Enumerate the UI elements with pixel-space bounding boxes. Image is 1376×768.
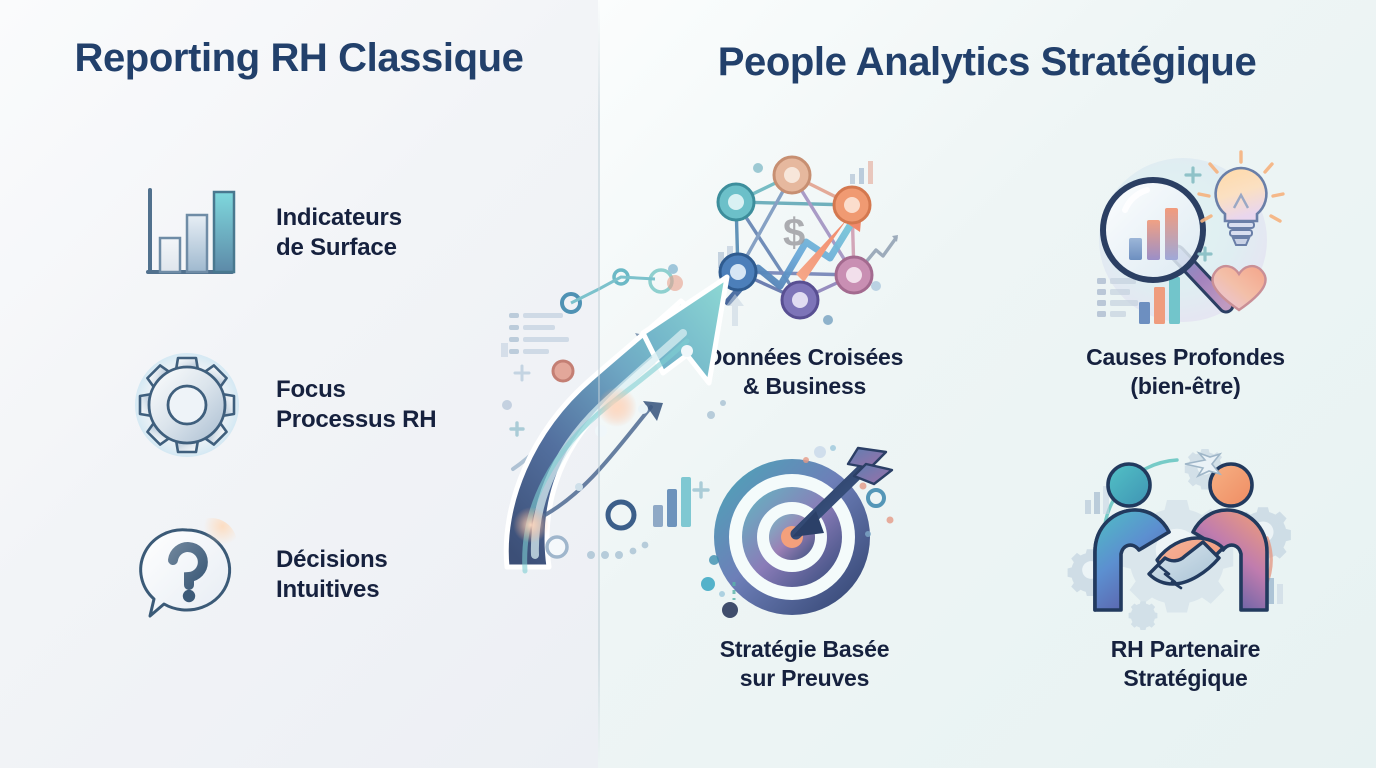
panel-divider [598,0,600,768]
right-panel-title: People Analytics Stratégique [598,40,1376,85]
left-item-focus-processus-rh: Focus Processus RH [132,350,436,460]
infographic-root: Reporting RH Classique [0,0,1376,768]
left-panel-reporting-rh: Reporting RH Classique [0,0,598,768]
right-item-label: Causes Profondes (bien-être) [1086,343,1285,401]
right-item-rh-partenaire-strategique: RH Partenaire Stratégique [995,442,1376,734]
left-panel-title: Reporting RH Classique [0,36,598,81]
handshake-gears-icon [1081,442,1291,627]
right-item-causes-profondes: Causes Profondes (bien-être) [995,150,1376,442]
left-item-decisions-intuitives: Décisions Intuitives [132,520,388,630]
bar-chart-icon [132,178,242,288]
left-item-label: Focus Processus RH [276,375,436,435]
right-item-label: RH Partenaire Stratégique [1111,635,1261,693]
left-item-label: Indicateurs de Surface [276,203,402,263]
magnifier-lightbulb-heart-icon [1081,150,1291,335]
svg-text:$: $ [783,211,805,255]
target-arrow-icon [700,442,910,627]
right-items-grid: $ [614,150,1376,734]
right-item-label: Données Croisées & Business [706,343,904,401]
network-graph-icon: $ [700,150,910,335]
gear-icon [132,350,242,460]
right-item-label: Stratégie Basée sur Preuves [720,635,890,693]
left-item-indicateurs-de-surface: Indicateurs de Surface [132,178,402,288]
question-speech-bubble-icon [132,520,242,630]
right-item-donnees-croisees: $ [614,150,995,442]
left-item-label: Décisions Intuitives [276,545,388,605]
right-item-strategie-basee-sur-preuves: Stratégie Basée sur Preuves [614,442,995,734]
